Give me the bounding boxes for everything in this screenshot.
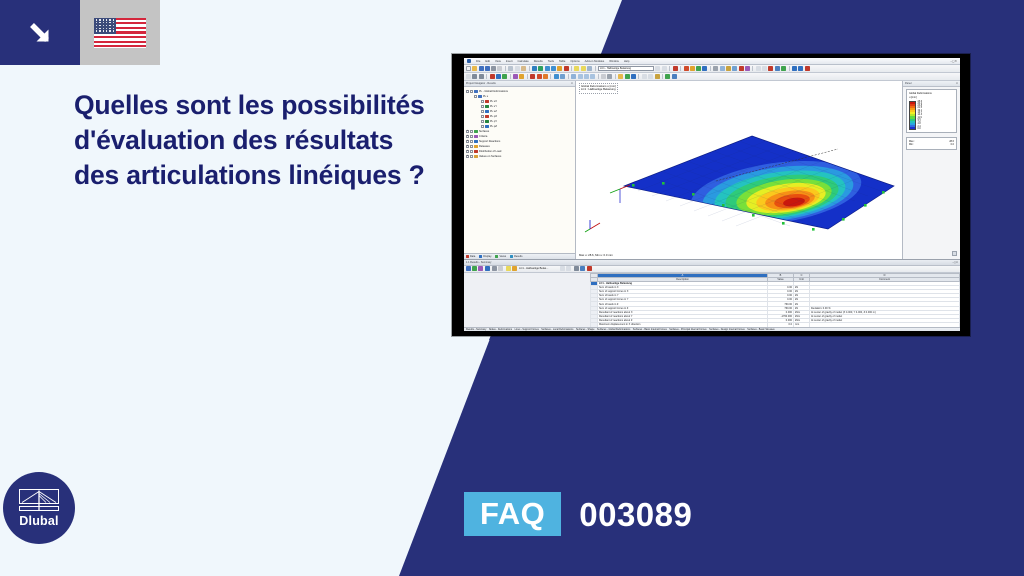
viewport-result-label: Global Deformations u [mm] LC1 : Halbsei… bbox=[579, 83, 618, 94]
view-xz-icon[interactable] bbox=[584, 74, 589, 79]
tree-item-label: PL uX bbox=[490, 100, 497, 103]
results-tab[interactable]: Surfaces - Local Deformations bbox=[541, 328, 573, 331]
camera-icon[interactable] bbox=[672, 74, 677, 79]
results-table[interactable]: A B C D Description Value Unit Comment bbox=[590, 273, 960, 327]
color-scale-icon[interactable] bbox=[618, 74, 623, 79]
table-icon[interactable] bbox=[574, 66, 579, 71]
tree-item-label: Distribution of Load bbox=[479, 150, 501, 153]
us-flag-icon bbox=[80, 0, 160, 65]
tree-item-icon bbox=[485, 115, 488, 118]
menu-item-options[interactable]: Options bbox=[570, 60, 579, 63]
tree-checkbox[interactable] bbox=[470, 130, 473, 133]
visibility-icon[interactable] bbox=[739, 66, 744, 71]
navigator-tab[interactable]: Results bbox=[510, 255, 522, 258]
load-line-icon[interactable] bbox=[537, 74, 542, 79]
tree-checkbox[interactable] bbox=[481, 115, 484, 118]
row-header[interactable] bbox=[591, 323, 598, 327]
legend-value-list: 28.626.223.821.519.116.714.311.99.57.24.… bbox=[918, 101, 922, 131]
window-controls[interactable]: –◻✕ bbox=[950, 59, 957, 63]
save-all-icon[interactable] bbox=[485, 66, 490, 71]
combo-next-icon[interactable] bbox=[662, 66, 667, 71]
open-icon[interactable] bbox=[472, 66, 477, 71]
legend-color-bar bbox=[909, 101, 916, 131]
results-tab[interactable]: Surfaces - Global Deformations bbox=[597, 328, 630, 331]
isobands-icon[interactable] bbox=[702, 66, 707, 71]
cell-comment bbox=[810, 323, 960, 327]
tree-item-label: Support Reactions bbox=[479, 140, 500, 143]
table-export-icon[interactable] bbox=[485, 266, 490, 271]
results-tab[interactable]: Surfaces - Basic Internal Forces bbox=[633, 328, 667, 331]
zoom-in-icon[interactable] bbox=[545, 66, 550, 71]
table-filter-icon[interactable] bbox=[472, 266, 477, 271]
arc-tool-icon[interactable] bbox=[479, 74, 484, 79]
table-next-icon[interactable] bbox=[566, 266, 571, 271]
panel-title-bar: Panel ✕ bbox=[903, 81, 960, 87]
result-label-line2: LC1 : Halbseitige Belastung bbox=[581, 88, 616, 92]
results-tab[interactable]: Surfaces - Design Internal Forces bbox=[709, 328, 745, 331]
calculate-icon[interactable] bbox=[673, 66, 678, 71]
tree-item-icon bbox=[485, 100, 488, 103]
results-grid[interactable]: A B C D Description Value Unit Comment bbox=[590, 273, 960, 327]
tree-checkbox[interactable] bbox=[481, 100, 484, 103]
results-tab[interactable]: Lines - Support Forces bbox=[515, 328, 539, 331]
legend-value: 0.0 bbox=[918, 128, 922, 130]
arrow-down-right-icon bbox=[0, 0, 80, 65]
flag-graphic bbox=[94, 18, 146, 48]
redo-icon[interactable] bbox=[538, 66, 543, 71]
navigator-tab[interactable]: Data bbox=[466, 255, 475, 258]
tree-expander-icon[interactable]: + bbox=[466, 150, 469, 153]
project-navigator[interactable]: Project Navigator - Results ✕ -PL - Glob… bbox=[464, 81, 576, 259]
osnap-icon[interactable] bbox=[655, 74, 660, 79]
navigator-title: Project Navigator - Results bbox=[466, 82, 496, 85]
tree-item-label: PL uY bbox=[490, 105, 497, 108]
undo-icon[interactable] bbox=[532, 66, 537, 71]
page-title: Quelles sont les possibilités d'évaluati… bbox=[74, 88, 444, 194]
info-icon[interactable] bbox=[781, 66, 786, 71]
support-icon[interactable] bbox=[513, 74, 518, 79]
printpreview-icon[interactable] bbox=[497, 66, 502, 71]
measure-icon[interactable] bbox=[756, 66, 761, 71]
legend-toggle-icon[interactable] bbox=[625, 74, 630, 79]
tree-expander-icon[interactable]: + bbox=[466, 155, 469, 158]
secondary-toolbar[interactable] bbox=[464, 73, 960, 81]
table-grid-icon[interactable] bbox=[466, 266, 471, 271]
surface-icon[interactable] bbox=[502, 74, 507, 79]
tree-expander-icon[interactable]: + bbox=[466, 130, 469, 133]
load-case-combo[interactable]: LC1 - Halbseitige Belastung bbox=[598, 66, 654, 71]
tree-item[interactable]: +Values on Surfaces bbox=[466, 154, 575, 159]
tree-item-icon bbox=[474, 150, 477, 153]
deformation-plot bbox=[576, 81, 924, 259]
navigator-tab-label: Results bbox=[514, 255, 522, 258]
rfem-application-window: File Edit View Insert Calculate Results … bbox=[464, 58, 960, 331]
tree-item-label: Surfaces bbox=[479, 130, 489, 133]
navigator-tab-label: Display bbox=[483, 255, 491, 258]
tree-item-icon bbox=[474, 135, 477, 138]
logo-text: Dlubal bbox=[19, 514, 58, 528]
tree-item-icon bbox=[474, 90, 477, 93]
pointer-icon[interactable] bbox=[466, 74, 471, 79]
legend-color-scale[interactable]: 28.626.223.821.519.116.714.311.99.57.24.… bbox=[909, 101, 954, 131]
table-prev-icon[interactable] bbox=[560, 266, 565, 271]
tree-checkbox[interactable] bbox=[470, 150, 473, 153]
table-area[interactable]: A B C D Description Value Unit Comment bbox=[464, 273, 960, 327]
navigator-tab-label: Data bbox=[470, 255, 475, 258]
legend-color-swatch bbox=[910, 127, 915, 129]
corner-badge bbox=[0, 0, 160, 65]
table-print-icon[interactable] bbox=[492, 266, 497, 271]
mesh-icon[interactable] bbox=[554, 74, 559, 79]
tree-item-icon bbox=[474, 130, 477, 133]
table-window-controls[interactable]: –◻✕ bbox=[952, 261, 958, 264]
tree-expander-icon[interactable]: + bbox=[466, 140, 469, 143]
printout-icon[interactable] bbox=[792, 66, 797, 71]
viewport-minmax-status: Max u: 28.6, Min u: 0.0 mm bbox=[579, 253, 613, 257]
tree-checkbox[interactable] bbox=[481, 105, 484, 108]
faq-footer: FAQ 003089 bbox=[464, 492, 692, 536]
line-tool-icon[interactable] bbox=[472, 74, 477, 79]
results-table-window[interactable]: 1.1 Results - Summary –◻✕ LC1 - Halbseit… bbox=[464, 259, 960, 331]
results-on-icon[interactable] bbox=[690, 66, 695, 71]
app-icon bbox=[467, 59, 471, 63]
solid-icon[interactable] bbox=[607, 74, 612, 79]
export-icon[interactable] bbox=[798, 66, 803, 71]
view-iso-icon[interactable] bbox=[571, 74, 576, 79]
legend-min-value: 0.0 bbox=[951, 143, 954, 147]
results-tab[interactable]: Surfaces - Principal Internal Forces bbox=[669, 328, 706, 331]
table-left-filler bbox=[464, 273, 590, 327]
tree-item-icon bbox=[474, 155, 477, 158]
tree-expander-icon[interactable]: + bbox=[466, 145, 469, 148]
tree-item-label: Criteria bbox=[479, 135, 487, 138]
legend-caption-line2: u [mm] bbox=[909, 96, 954, 100]
table-toolbar[interactable]: LC1 - Halbseitige Belas... bbox=[464, 266, 960, 273]
menu-item-addon-modules[interactable]: Add-on Modules bbox=[585, 60, 605, 63]
tree-checkbox[interactable] bbox=[481, 110, 484, 113]
panel-close-icon[interactable]: ✕ bbox=[956, 82, 958, 85]
software-screenshot: File Edit View Insert Calculate Results … bbox=[452, 54, 970, 336]
ortho-icon[interactable] bbox=[648, 74, 653, 79]
faq-badge: FAQ bbox=[464, 492, 561, 536]
dlubal-logo: Dlubal bbox=[3, 472, 75, 544]
legend-caption: Global Deformations u [mm] bbox=[909, 92, 954, 99]
menu-item-view[interactable]: View bbox=[495, 60, 501, 63]
navigator-tab-icon bbox=[495, 255, 498, 258]
table-settings-icon[interactable] bbox=[580, 266, 585, 271]
tree-item-label: Values on Surfaces bbox=[479, 155, 501, 158]
table-color-icon[interactable] bbox=[512, 266, 517, 271]
results-tab[interactable]: Surfaces - Shape bbox=[576, 328, 594, 331]
copy-icon[interactable] bbox=[515, 66, 520, 71]
menu-item-table[interactable]: Table bbox=[559, 60, 565, 63]
tree-item-icon bbox=[474, 145, 477, 148]
results-tab[interactable]: Nodes - Deformations bbox=[489, 328, 512, 331]
workspace: Project Navigator - Results ✕ -PL - Glob… bbox=[464, 81, 960, 259]
filter-icon[interactable] bbox=[732, 66, 737, 71]
zoom-window-icon[interactable] bbox=[557, 66, 562, 71]
tree-checkbox[interactable] bbox=[470, 135, 473, 138]
isolines-icon[interactable] bbox=[696, 66, 701, 71]
menu-item-window[interactable]: Window bbox=[609, 60, 619, 63]
table-title: 1.1 Results - Summary bbox=[466, 261, 491, 264]
tree-item-icon bbox=[485, 105, 488, 108]
tree-item-label: PL u bbox=[483, 95, 488, 98]
results-tab[interactable]: Results - Summary bbox=[466, 328, 486, 331]
legend-min-label: Min : bbox=[909, 143, 914, 147]
coordinate-axes-icon bbox=[584, 219, 602, 233]
table-printpreview-icon[interactable] bbox=[498, 266, 503, 271]
frame-truss-icon bbox=[19, 489, 59, 512]
save-icon[interactable] bbox=[479, 66, 484, 71]
navigator-tab-label: Views bbox=[499, 255, 506, 258]
navigator-tab[interactable]: Display bbox=[479, 255, 491, 258]
cell-value: 0.0 bbox=[768, 323, 794, 327]
refresh-icon[interactable] bbox=[665, 74, 670, 79]
tree-checkbox[interactable] bbox=[470, 140, 473, 143]
labels-icon[interactable] bbox=[631, 74, 636, 79]
panel-zoom-icon[interactable] bbox=[952, 251, 957, 256]
tree-item-icon bbox=[485, 125, 488, 128]
hinge-icon[interactable] bbox=[519, 74, 524, 79]
results-panel[interactable]: Panel ✕ Global Deformations u [mm] 28.62… bbox=[902, 81, 960, 259]
tree-expander-icon[interactable]: + bbox=[466, 135, 469, 138]
values-icon[interactable] bbox=[720, 66, 725, 71]
menu-item-file[interactable]: File bbox=[476, 60, 480, 63]
model-viewport[interactable]: Global Deformations u [mm] LC1 : Halbsei… bbox=[576, 81, 960, 259]
legend-box: Global Deformations u [mm] 28.626.223.82… bbox=[906, 89, 957, 133]
layers-icon[interactable] bbox=[745, 66, 750, 71]
table-sort-icon[interactable] bbox=[478, 266, 483, 271]
menu-bar[interactable]: File Edit View Insert Calculate Results … bbox=[464, 58, 960, 65]
menu-item-edit[interactable]: Edit bbox=[485, 60, 490, 63]
tree-checkbox[interactable] bbox=[470, 90, 473, 93]
main-toolbar[interactable]: LC1 - Halbseitige Belastung bbox=[464, 65, 960, 73]
cut-icon[interactable] bbox=[508, 66, 513, 71]
results-tab[interactable]: Surfaces - Basic Stresses bbox=[747, 328, 774, 331]
navigator-tabs[interactable]: DataDisplayViewsResults bbox=[464, 253, 575, 259]
settings-icon[interactable] bbox=[775, 66, 780, 71]
fe-mesh-icon[interactable] bbox=[560, 74, 565, 79]
tree-item-label: PL φY bbox=[490, 120, 497, 123]
grid-icon[interactable] bbox=[581, 66, 586, 71]
tree-checkbox[interactable] bbox=[470, 145, 473, 148]
table-function-icon[interactable] bbox=[574, 266, 579, 271]
paste-icon[interactable] bbox=[521, 66, 526, 71]
tree-item-icon bbox=[485, 110, 488, 113]
tree-item-label: PL uZ bbox=[490, 110, 497, 113]
tree-item-label: Releases bbox=[479, 145, 490, 148]
menu-item-help[interactable]: Help bbox=[624, 60, 630, 63]
tree-expander-icon[interactable]: - bbox=[466, 90, 469, 93]
tree-item-icon bbox=[485, 120, 488, 123]
tree-item-icon bbox=[474, 140, 477, 143]
cell-description: Maximum displacement in X direction bbox=[598, 323, 768, 327]
print-icon[interactable] bbox=[491, 66, 496, 71]
deformation-icon[interactable] bbox=[684, 66, 689, 71]
delete-icon[interactable] bbox=[768, 66, 773, 71]
menu-item-results[interactable]: Results bbox=[534, 60, 543, 63]
new-icon[interactable] bbox=[466, 66, 471, 71]
grid-snap-icon[interactable] bbox=[642, 74, 647, 79]
tree-checkbox[interactable] bbox=[481, 125, 484, 128]
results-table-tabs[interactable]: Results - SummaryNodes - DeformationsLin… bbox=[464, 327, 960, 332]
dimension-icon[interactable] bbox=[762, 66, 767, 71]
navigator-tree[interactable]: -PL - Global DeformationsPL uPL uXPL uYP… bbox=[464, 87, 575, 253]
load-nodal-icon[interactable] bbox=[530, 74, 535, 79]
wireframe-icon[interactable] bbox=[601, 74, 606, 79]
tree-checkbox[interactable] bbox=[481, 120, 484, 123]
table-highlight-icon[interactable] bbox=[506, 266, 511, 271]
menu-item-insert[interactable]: Insert bbox=[506, 60, 513, 63]
tree-item-icon bbox=[478, 95, 481, 98]
table-load-case-combo[interactable]: LC1 - Halbseitige Belas... bbox=[519, 267, 559, 270]
table-row[interactable]: Maximum displacement in X direction0.0mm bbox=[591, 323, 960, 327]
tree-checkbox[interactable] bbox=[470, 155, 473, 158]
tree-item-label: PL - Global Deformations bbox=[479, 90, 508, 93]
clipping-icon[interactable] bbox=[726, 66, 731, 71]
menu-item-calculate[interactable]: Calculate bbox=[518, 60, 529, 63]
help-icon[interactable] bbox=[805, 66, 810, 71]
cell-unit: mm bbox=[794, 323, 810, 327]
tree-item-label: PL φZ bbox=[490, 125, 497, 128]
node-icon[interactable] bbox=[490, 74, 495, 79]
view-yz-icon[interactable] bbox=[590, 74, 595, 79]
combo-prev-icon[interactable] bbox=[655, 66, 660, 71]
navigator-tab[interactable]: Views bbox=[495, 255, 506, 258]
view-xy-icon[interactable] bbox=[578, 74, 583, 79]
sections-icon[interactable] bbox=[713, 66, 718, 71]
render-icon[interactable] bbox=[564, 66, 569, 71]
table-help-icon[interactable] bbox=[587, 266, 592, 271]
faq-number: 003089 bbox=[579, 498, 692, 531]
navigator-tab-icon bbox=[466, 255, 469, 258]
member-icon[interactable] bbox=[496, 74, 501, 79]
tree-item-label: PL φX bbox=[490, 115, 497, 118]
legend-minmax: Max : 28.6 Min : 0.0 bbox=[906, 137, 957, 149]
panel-title: Panel bbox=[905, 82, 911, 85]
load-surface-icon[interactable] bbox=[543, 74, 548, 79]
navigator-tab-icon bbox=[479, 255, 482, 258]
navigator-tab-icon bbox=[510, 255, 513, 258]
navigator-close-icon[interactable]: ✕ bbox=[571, 82, 573, 85]
snap-icon[interactable] bbox=[587, 66, 592, 71]
zoom-out-icon[interactable] bbox=[551, 66, 556, 71]
menu-item-tools[interactable]: Tools bbox=[548, 60, 554, 63]
tree-checkbox[interactable] bbox=[474, 95, 477, 98]
